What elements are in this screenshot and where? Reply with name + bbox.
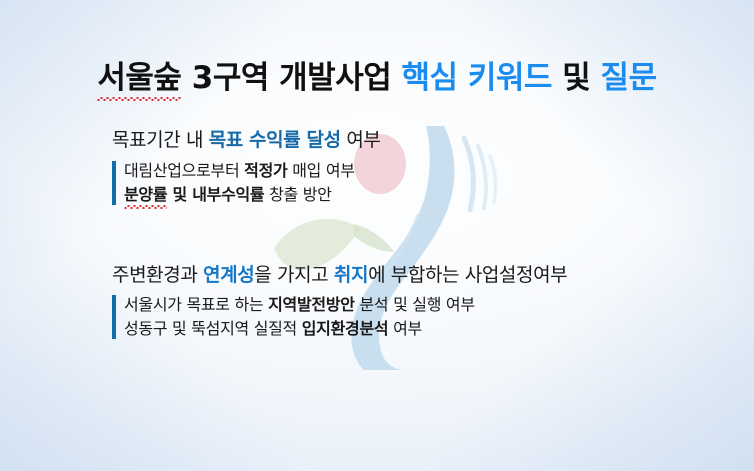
sub-2-1-strong: 지역발전방안 xyxy=(268,295,355,314)
sub-2-1-part-1: 서울시가 목표로 하는 xyxy=(124,295,268,314)
sub-1-1-part-1: 대림산업으로부터 xyxy=(124,161,244,180)
sub-1-1-part-3: 매입 여부 xyxy=(287,161,354,180)
list-item: 서울시가 목표로 하는 지역발전방안 분석 및 실행 여부 xyxy=(124,293,712,317)
headline-1-accent: 목표 수익률 달성 xyxy=(209,129,341,151)
headline-2-part-5: 에 부합하는 사업설정여부 xyxy=(368,264,567,286)
title-segment-accent-1: 핵심 키워드 xyxy=(402,60,552,96)
headline-1-part-3: 여부 xyxy=(341,129,381,151)
sub-2-1-part-3: 분석 및 실행 여부 xyxy=(355,295,475,314)
sub-2-2-strong: 입지환경분석 xyxy=(302,319,389,338)
headline-2-part-1: 주변환경과 xyxy=(112,264,203,286)
sub-1-2-strong-spellchecked: 분양률 xyxy=(124,183,167,207)
block-2-sub-group: 서울시가 목표로 하는 지역발전방안 분석 및 실행 여부 성동구 및 뚝섬지역… xyxy=(112,293,712,341)
list-item: 성동구 및 뚝섬지역 실질적 입지환경분석 여부 xyxy=(124,317,712,341)
title-segment-conjunction: 및 xyxy=(552,60,601,96)
block-1-sub-group: 대림산업으로부터 적정가 매입 여부 분양률 및 내부수익률 창출 방안 xyxy=(112,159,712,207)
slide-body: 목표기간 내 목표 수익률 달성 여부 대림산업으로부터 적정가 매입 여부 분… xyxy=(112,128,712,341)
headline-2-accent-2: 취지 xyxy=(334,264,368,286)
sub-1-2-part-3: 창출 방안 xyxy=(264,185,331,204)
list-item: 대림산업으로부터 적정가 매입 여부 xyxy=(124,159,712,183)
block-1-accent-bar xyxy=(112,161,116,205)
title-segment-accent-2: 질문 xyxy=(601,60,657,96)
block-2-headline: 주변환경과 연계성을 가지고 취지에 부합하는 사업설정여부 xyxy=(112,263,712,289)
headline-2-part-3: 을 가지고 xyxy=(254,264,334,286)
list-item: 분양률 및 내부수익률 창출 방안 xyxy=(124,183,712,207)
block-1-headline: 목표기간 내 목표 수익률 달성 여부 xyxy=(112,128,712,154)
sub-1-2-strong: 및 내부수익률 xyxy=(167,185,264,204)
content-block-2: 주변환경과 연계성을 가지고 취지에 부합하는 사업설정여부 서울시가 목표로 … xyxy=(112,263,712,342)
sub-1-1-strong: 적정가 xyxy=(244,161,287,180)
slide-canvas: 서울숲 3구역 개발사업 핵심 키워드 및 질문 목표기간 내 목표 수익률 달… xyxy=(0,0,754,471)
block-2-accent-bar xyxy=(112,295,116,339)
content-block-1: 목표기간 내 목표 수익률 달성 여부 대림산업으로부터 적정가 매입 여부 분… xyxy=(112,128,712,207)
title-segment-plain: 3구역 개발사업 xyxy=(181,60,401,96)
title-segment-spellchecked: 서울숲 xyxy=(97,59,181,98)
headline-2-accent-1: 연계성 xyxy=(203,264,254,286)
headline-1-part-1: 목표기간 내 xyxy=(112,129,209,151)
page-title: 서울숲 3구역 개발사업 핵심 키워드 및 질문 xyxy=(97,59,656,98)
sub-2-2-part-1: 성동구 및 뚝섬지역 실질적 xyxy=(124,319,302,338)
sub-2-2-part-3: 여부 xyxy=(388,319,422,338)
slide-title-container: 서울숲 3구역 개발사업 핵심 키워드 및 질문 xyxy=(0,38,754,118)
